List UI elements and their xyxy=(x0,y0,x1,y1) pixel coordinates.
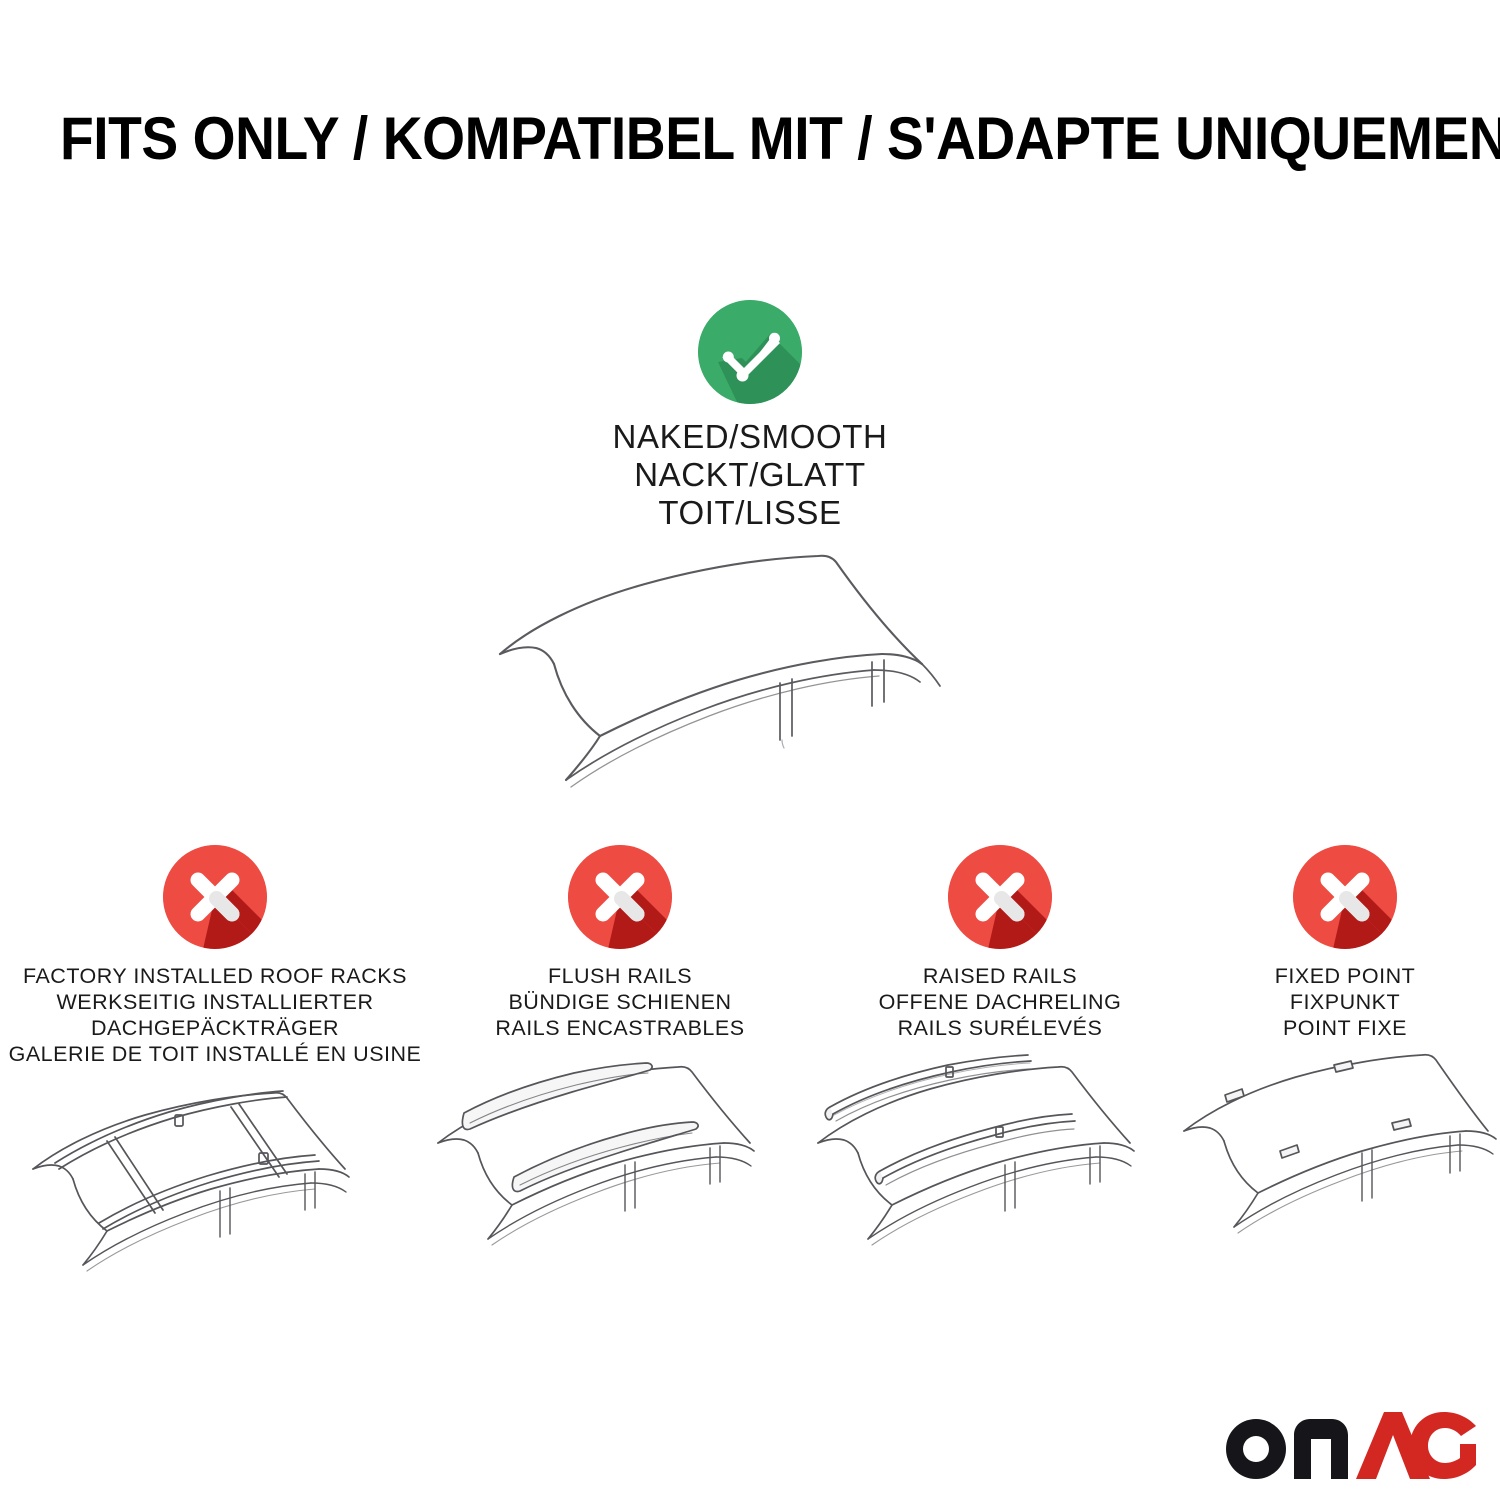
car-roof-flush-rails-illustration xyxy=(420,1051,820,1266)
omac-logo xyxy=(1210,1402,1480,1482)
car-roof-raised-rails-illustration xyxy=(800,1051,1200,1266)
compatible-label-en: NAKED/SMOOTH xyxy=(613,418,888,456)
label-line-4: GALERIE DE TOIT INSTALLÉ EN USINE xyxy=(9,1041,422,1067)
label-line-2: BÜNDIGE SCHIENEN xyxy=(495,989,744,1015)
label-line-2: WERKSEITIG INSTALLIERTER xyxy=(9,989,422,1015)
compatible-label-de: NACKT/GLATT xyxy=(613,456,888,494)
logo-letter-o xyxy=(1226,1419,1286,1479)
x-circle-icon xyxy=(163,845,267,949)
label-line-1: FIXED POINT xyxy=(1275,963,1415,989)
label-line-1: FLUSH RAILS xyxy=(495,963,744,989)
incompatible-section: FACTORY INSTALLED ROOF RACKS WERKSEITIG … xyxy=(0,845,1500,1292)
incompatible-labels: FACTORY INSTALLED ROOF RACKS WERKSEITIG … xyxy=(9,963,422,1067)
incompatible-labels: FIXED POINT FIXPUNKT POINT FIXE xyxy=(1275,963,1415,1041)
compatible-section: NAKED/SMOOTH NACKT/GLATT TOIT/LISSE xyxy=(0,300,1500,814)
car-roof-fixed-point-illustration xyxy=(1170,1051,1500,1266)
logo-letter-c xyxy=(1410,1412,1476,1479)
x-circle-icon xyxy=(948,845,1052,949)
check-circle-icon xyxy=(698,300,802,404)
label-line-3: DACHGEPÄCKTRÄGER xyxy=(9,1015,422,1041)
x-circle-icon xyxy=(1293,845,1397,949)
incompatible-labels: RAISED RAILS OFFENE DACHRELING RAILS SUR… xyxy=(879,963,1122,1041)
label-line-2: FIXPUNKT xyxy=(1275,989,1415,1015)
incompatible-item-raised-rails: RAISED RAILS OFFENE DACHRELING RAILS SUR… xyxy=(810,845,1190,1266)
label-line-2: OFFENE DACHRELING xyxy=(879,989,1122,1015)
logo-letter-m xyxy=(1294,1419,1348,1479)
compatible-labels: NAKED/SMOOTH NACKT/GLATT TOIT/LISSE xyxy=(613,418,888,532)
incompatible-item-factory-installed-roof-racks: FACTORY INSTALLED ROOF RACKS WERKSEITIG … xyxy=(0,845,430,1292)
x-circle-icon xyxy=(568,845,672,949)
fitment-infographic: FITS ONLY / KOMPATIBEL MIT / S'ADAPTE UN… xyxy=(0,0,1500,1500)
label-line-1: RAISED RAILS xyxy=(879,963,1122,989)
label-line-3: POINT FIXE xyxy=(1275,1015,1415,1041)
page-title: FITS ONLY / KOMPATIBEL MIT / S'ADAPTE UN… xyxy=(60,104,1440,173)
label-line-3: RAILS ENCASTRABLES xyxy=(495,1015,744,1041)
label-line-1: FACTORY INSTALLED ROOF RACKS xyxy=(9,963,422,989)
incompatible-item-flush-rails: FLUSH RAILS BÜNDIGE SCHIENEN RAILS ENCAS… xyxy=(430,845,810,1266)
car-roof-factory-rack-illustration xyxy=(15,1077,415,1292)
compatible-label-fr: TOIT/LISSE xyxy=(613,494,888,532)
car-roof-naked-smooth-illustration xyxy=(470,544,1030,814)
incompatible-item-fixed-point: FIXED POINT FIXPUNKT POINT FIXE xyxy=(1190,845,1500,1266)
label-line-3: RAILS SURÉLEVÉS xyxy=(879,1015,1122,1041)
incompatible-labels: FLUSH RAILS BÜNDIGE SCHIENEN RAILS ENCAS… xyxy=(495,963,744,1041)
